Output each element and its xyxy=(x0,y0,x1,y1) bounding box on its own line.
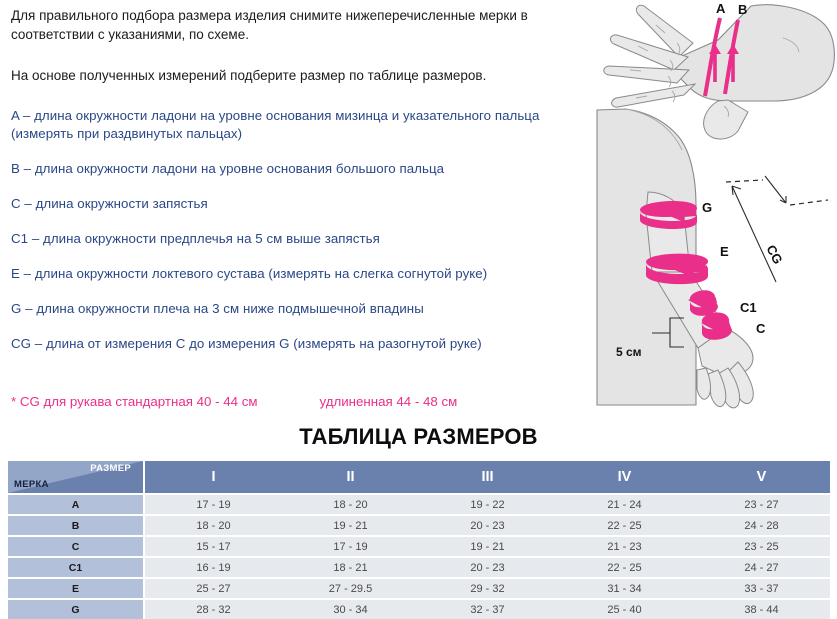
cell-c1-iv: 22 - 25 xyxy=(556,556,693,577)
label-e: E xyxy=(720,244,729,259)
cell-c1-v: 24 - 27 xyxy=(693,556,830,577)
cg-sleeve-note: * CG для рукава стандартная 40 - 44 смуд… xyxy=(11,393,457,410)
size-table-body: A 17 - 19 18 - 20 19 - 22 21 - 24 23 - 2… xyxy=(8,493,830,619)
instructions-block: Для правильного подбора размера изделия … xyxy=(11,6,571,353)
table-header-row: РАЗМЕР МЕРКА I II III IV V xyxy=(8,461,830,493)
cell-e-ii: 27 - 29.5 xyxy=(282,577,419,598)
cell-b-iii: 20 - 23 xyxy=(419,514,556,535)
measurement-definition-b: B – длина окружности ладони на уровне ос… xyxy=(11,160,571,178)
table-corner-cell: РАЗМЕР МЕРКА xyxy=(8,461,145,493)
cg-annotation: G E CG C1 C xyxy=(702,176,828,336)
measurement-definition-g: G – длина окружности плеча на 3 см ниже … xyxy=(11,300,571,318)
row-label-c: C xyxy=(8,535,145,556)
measurement-definitions-list: A – длина окружности ладони на уровне ос… xyxy=(11,107,571,353)
column-header-ii: II xyxy=(282,461,419,493)
cell-c1-ii: 18 - 21 xyxy=(282,556,419,577)
cell-c-iii: 19 - 21 xyxy=(419,535,556,556)
label-a: A xyxy=(716,1,726,16)
cell-e-i: 25 - 27 xyxy=(145,577,282,598)
table-row: B 18 - 20 19 - 21 20 - 23 22 - 25 24 - 2… xyxy=(8,514,830,535)
size-table: РАЗМЕР МЕРКА I II III IV V A 17 - 19 18 … xyxy=(8,461,830,619)
cell-b-v: 24 - 28 xyxy=(693,514,830,535)
cell-a-ii: 18 - 20 xyxy=(282,493,419,514)
label-b: B xyxy=(738,2,747,17)
cell-c-ii: 17 - 19 xyxy=(282,535,419,556)
column-header-iii: III xyxy=(419,461,556,493)
table-row: C1 16 - 19 18 - 21 20 - 23 22 - 25 24 - … xyxy=(8,556,830,577)
corner-size-label: РАЗМЕР xyxy=(90,463,131,474)
cell-c-v: 23 - 25 xyxy=(693,535,830,556)
arm-illustration: 5 см G E CG C1 C xyxy=(597,109,828,408)
cell-b-i: 18 - 20 xyxy=(145,514,282,535)
cell-b-ii: 19 - 21 xyxy=(282,514,419,535)
cell-a-iii: 19 - 22 xyxy=(419,493,556,514)
cell-c-iv: 21 - 23 xyxy=(556,535,693,556)
cell-c1-iii: 20 - 23 xyxy=(419,556,556,577)
intro-paragraph-2: На основе полученных измерений подберите… xyxy=(11,66,571,85)
column-header-iv: IV xyxy=(556,461,693,493)
table-row: C 15 - 17 17 - 19 19 - 21 21 - 23 23 - 2… xyxy=(8,535,830,556)
band-g xyxy=(640,201,697,229)
cell-e-iii: 29 - 32 xyxy=(419,577,556,598)
guide-top-section: Для правильного подбора размера изделия … xyxy=(0,0,837,418)
cell-e-v: 33 - 37 xyxy=(693,577,830,598)
cell-e-iv: 31 - 34 xyxy=(556,577,693,598)
intro-paragraph-1: Для правильного подбора размера изделия … xyxy=(11,6,571,44)
cg-note-extended: удлиненная 44 - 48 см xyxy=(320,394,458,409)
table-row: A 17 - 19 18 - 20 19 - 22 21 - 24 23 - 2… xyxy=(8,493,830,514)
measurement-definition-e: E – длина окружности локтевого сустава (… xyxy=(11,265,571,283)
page-title: ТАБЛИЦА РАЗМЕРОВ xyxy=(0,424,837,450)
row-label-c1: C1 xyxy=(8,556,145,577)
cell-c-i: 15 - 17 xyxy=(145,535,282,556)
cell-a-v: 23 - 27 xyxy=(693,493,830,514)
label-5cm: 5 см xyxy=(616,345,642,359)
label-c1: C1 xyxy=(740,300,757,315)
label-c: C xyxy=(756,321,766,336)
cg-note-standard: * CG для рукава стандартная 40 - 44 см xyxy=(11,394,258,409)
column-header-v: V xyxy=(693,461,830,493)
measurement-definition-c1: C1 – длина окружности предплечья на 5 см… xyxy=(11,230,571,248)
measurement-diagram: .skin { fill:#e4e4e4; stroke:#8a8a8a; st… xyxy=(578,0,837,418)
measurement-definition-cg: CG – длина от измерения C до измерения G… xyxy=(11,335,571,353)
row-label-b: B xyxy=(8,514,145,535)
cell-b-iv: 22 - 25 xyxy=(556,514,693,535)
cell-c1-i: 16 - 19 xyxy=(145,556,282,577)
table-row: E 25 - 27 27 - 29.5 29 - 32 31 - 34 33 -… xyxy=(8,577,830,598)
measurement-definition-a: A – длина окружности ладони на уровне ос… xyxy=(11,107,571,143)
label-g: G xyxy=(702,200,712,215)
cell-a-i: 17 - 19 xyxy=(145,493,282,514)
column-header-i: I xyxy=(145,461,282,493)
corner-measure-label: МЕРКА xyxy=(14,479,49,490)
size-table-head: РАЗМЕР МЕРКА I II III IV V xyxy=(8,461,830,493)
measurement-definition-c: C – длина окружности запястья xyxy=(11,195,571,213)
cell-a-iv: 21 - 24 xyxy=(556,493,693,514)
row-label-a: A xyxy=(8,493,145,514)
row-label-e: E xyxy=(8,577,145,598)
